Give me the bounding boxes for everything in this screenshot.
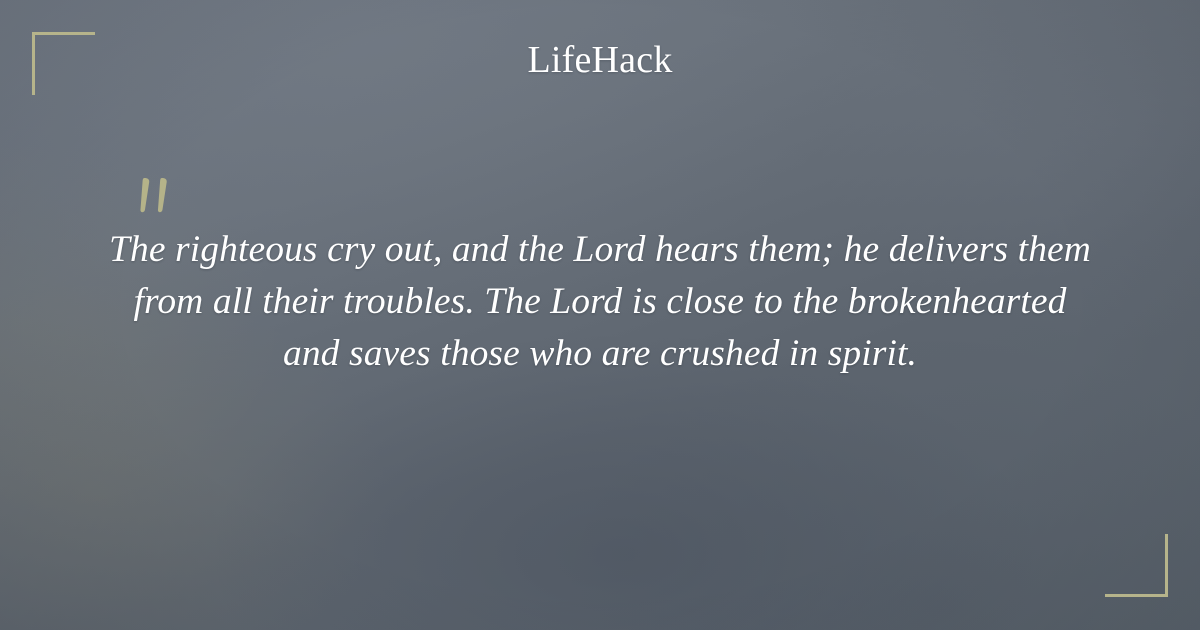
quote-card: LifeHack The righteous cry out, and the … xyxy=(0,0,1200,630)
brand-logo: LifeHack xyxy=(0,41,1200,79)
quote-text: The righteous cry out, and the Lord hear… xyxy=(0,224,1200,380)
quote-block: The righteous cry out, and the Lord hear… xyxy=(0,170,1200,380)
corner-bracket-bottom-right-icon xyxy=(1105,534,1168,597)
quotation-mark-icon xyxy=(0,170,1200,224)
